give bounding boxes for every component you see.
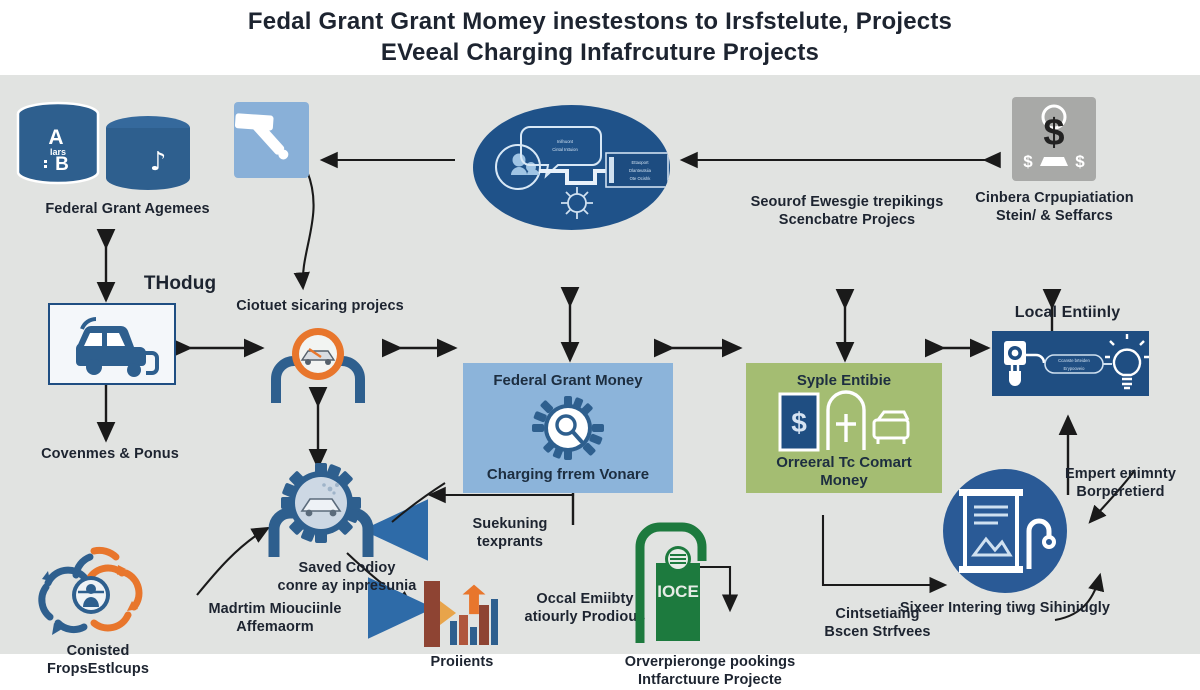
federal-grant-money-label-bottom: Charging frrem Vonare [487, 466, 649, 484]
charging-pole-text: IOCE [657, 582, 699, 601]
contract-sharing-label: Ciotuet sicaring projecs [200, 297, 440, 315]
page-title-line-1: Fedal Grant Grant Momey inestestons to I… [248, 7, 952, 38]
dollar-charging-station-icon: $ [774, 390, 914, 454]
source-energy-label: Seourof Ewesgie trepikings Scencbatre Pr… [742, 193, 952, 230]
securing-experts-label: Suekuning texprants [440, 515, 580, 552]
diagram-body: A lars B ♪ Federal Grant Agemees [0, 75, 1200, 654]
svg-text:$: $ [1075, 152, 1085, 171]
local-entity-inner-text-2: Erypooveio [1064, 366, 1086, 371]
saved-capacity-node[interactable]: Saved Codioy conre ay inpresunia [262, 463, 380, 559]
electric-vehicle-icon [50, 305, 174, 383]
charging-pole-node[interactable]: IOCE [630, 525, 710, 645]
svg-text:$: $ [1043, 112, 1064, 154]
svg-text:♪: ♪ [150, 147, 167, 177]
ev-charging-pole-icon: IOCE [630, 525, 710, 645]
vehicle-box-label: THodug [120, 272, 240, 296]
supply-entity-label-bottom: Orreeral Tc Comart Money [752, 454, 936, 490]
network-collaboration-icon: Inifnuont Cintal Inttuion Ettaoport Dlan… [473, 105, 670, 230]
plug-bulb-network-icon: Ccanste brteiden Erypooveio [992, 331, 1149, 396]
money-dollar-tile-icon: $ $ $ [1012, 97, 1096, 181]
gear-vehicle-icon [262, 463, 380, 559]
gavel-icon [234, 102, 309, 178]
charging-circle-label: Sixeer Intering tiwg Sihiniugly [880, 599, 1130, 617]
svg-text:A: A [48, 126, 63, 149]
ellipse-server-text-2: Dlanteutsiia [629, 168, 652, 173]
database-cylinders-icon: A lars B ♪ [10, 100, 200, 200]
local-entity-box[interactable]: Ccanste brteiden Erypooveio [992, 331, 1149, 396]
federal-grant-money-label-top: Federal Grant Money [493, 372, 642, 390]
gear-magnifier-icon [532, 396, 604, 460]
covenants-bonus-label: Covenmes & Ponus [10, 445, 210, 463]
contract-sharing-node[interactable] [266, 327, 370, 405]
svg-text:B: B [55, 154, 69, 175]
vehicle-box[interactable] [48, 303, 176, 385]
overcharging-projects-label: Orverpieronge pookings Intfarctuure Proj… [600, 653, 820, 690]
local-entity-inner-text-1: Ccanste brteiden [1058, 358, 1090, 363]
svg-text:$: $ [1023, 152, 1033, 171]
federal-grant-agencies-node[interactable]: A lars B ♪ Federal Grant Agemees [10, 100, 200, 200]
dollar-glyph: $ [791, 407, 807, 438]
page-title-line-2: EVeeal Charging Infafrcuture Projects [381, 38, 819, 69]
network-cycle-people-icon [28, 537, 168, 647]
consisted-groups-label: Conisted FropsEstlcups [10, 642, 186, 679]
consisted-groups-node[interactable]: Conisted FropsEstlcups [28, 537, 168, 647]
ellipse-server-text-3: Ote Ocishk [630, 176, 652, 181]
local-entity-label: Local Entiinly [985, 303, 1150, 323]
vehicle-roundel-icon [266, 327, 370, 405]
corporation-label: Cinbera Crpupiatiation Stein/ & Seffarcs [942, 189, 1167, 226]
supply-entity-box[interactable]: Syple Entibie $ Orreeral Tc Comart Money [746, 363, 942, 493]
page-header: Fedal Grant Grant Momey inestestons to I… [0, 0, 1200, 75]
ellipse-bubble-text-1: Inifnuont [557, 139, 574, 144]
expert-community-label: Empert enimnty Borperetierd [1038, 465, 1200, 502]
federal-grant-agencies-label: Federal Grant Agemees [0, 200, 255, 218]
ellipse-server-text-1: Ettaoport [632, 160, 650, 165]
maritime-label: Madrtim Miouciinle Affemaorm [180, 600, 370, 637]
projects-chart-label: Proiients [406, 653, 518, 671]
diagram-canvas: Fedal Grant Grant Momey inestestons to I… [0, 0, 1200, 654]
federal-grant-money-box[interactable]: Federal Grant Money [463, 363, 673, 493]
collaboration-ellipse[interactable]: Inifnuont Cintal Inttuion Ettaoport Dlan… [473, 105, 670, 230]
ellipse-bubble-text-2: Cintal Inttuion [552, 147, 578, 152]
supply-entity-label-top: Syple Entibie [797, 372, 891, 390]
